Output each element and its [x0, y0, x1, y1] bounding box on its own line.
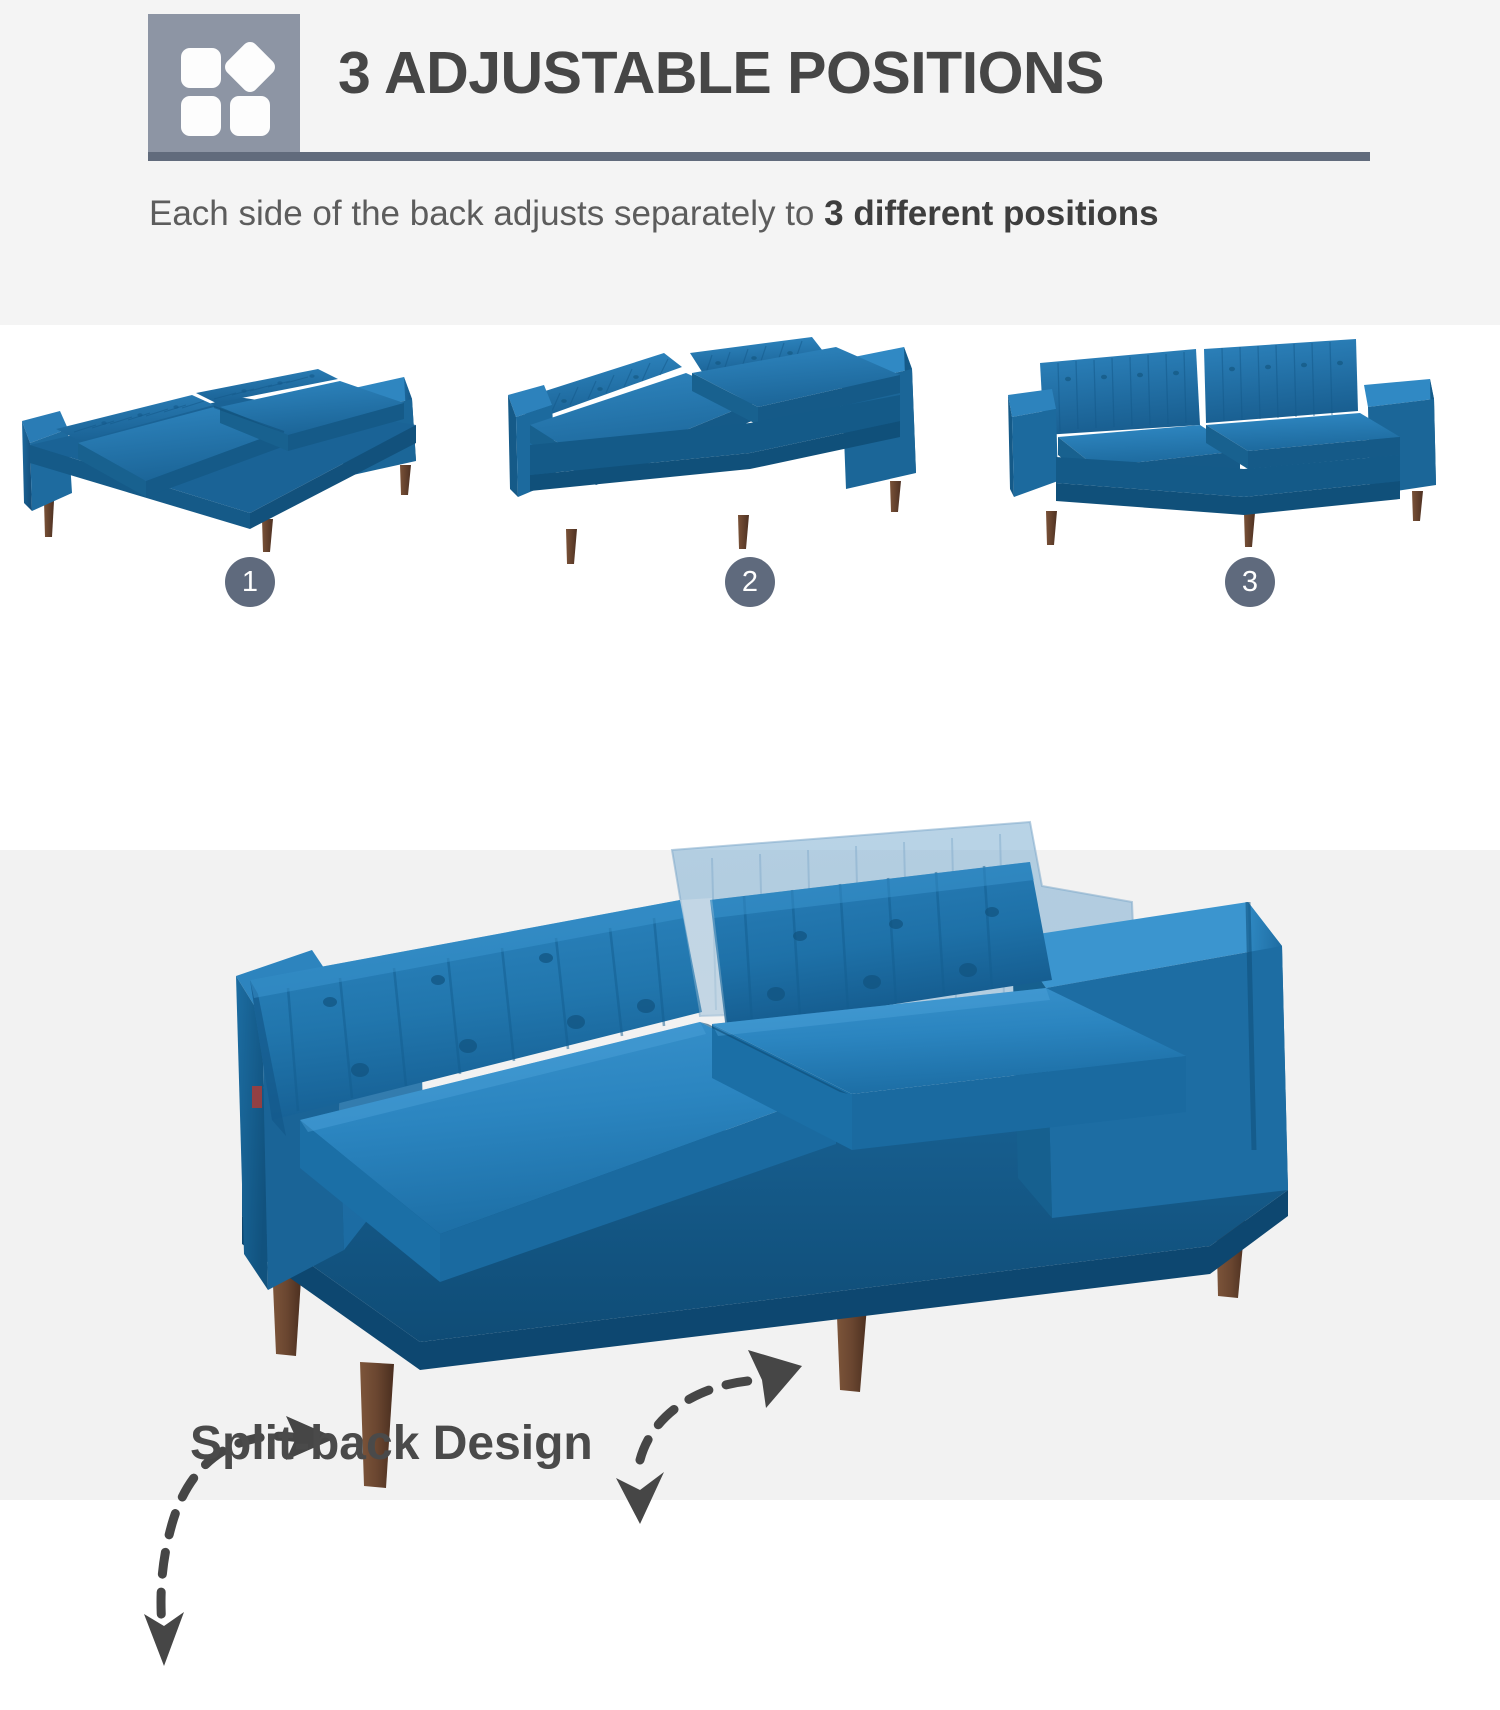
sofa-upright-illustration	[1000, 333, 1500, 583]
page-title: 3 ADJUSTABLE POSITIONS	[338, 44, 1104, 103]
position-image-1	[0, 333, 500, 583]
position-badge-3: 3	[1225, 557, 1275, 607]
positions-strip: 1	[0, 325, 1500, 650]
sofa-reclined-illustration	[500, 333, 1000, 583]
callout-arrows	[0, 1310, 1500, 1710]
grid-block-bottom-right	[230, 96, 270, 136]
position-card-2[interactable]: 2	[500, 325, 1000, 650]
position-card-3[interactable]: 3	[1000, 325, 1500, 650]
arrow-head-lower-right	[616, 1472, 664, 1524]
position-card-1[interactable]: 1	[0, 325, 500, 650]
position-image-3	[1000, 333, 1500, 583]
subtitle-prefix: Each side of the back adjusts separately…	[149, 194, 824, 233]
position-image-2	[500, 333, 1000, 583]
page-subtitle: Each side of the back adjusts separately…	[149, 192, 1159, 236]
arrow-right-path	[640, 1380, 762, 1460]
position-badge-1: 1	[225, 557, 275, 607]
grid-block-bottom-left	[181, 96, 221, 136]
position-badge-2: 2	[725, 557, 775, 607]
split-back-label: Split-back Design	[190, 1420, 593, 1468]
hero-section: Split-back Design	[0, 650, 1500, 1500]
title-divider	[148, 152, 1370, 161]
fabric-tag	[252, 1086, 262, 1108]
arrow-head-lower-left	[144, 1612, 184, 1666]
subtitle-emphasis: 3 different positions	[824, 194, 1158, 233]
grid-block-top-left	[181, 48, 221, 88]
sofa-flat-illustration	[0, 333, 500, 583]
arrow-head-upper-right	[748, 1350, 802, 1408]
grid-block-top-right-diamond	[222, 39, 279, 96]
header-band: 3 ADJUSTABLE POSITIONS Each side of the …	[0, 0, 1500, 325]
grid-blocks-icon	[148, 14, 300, 158]
